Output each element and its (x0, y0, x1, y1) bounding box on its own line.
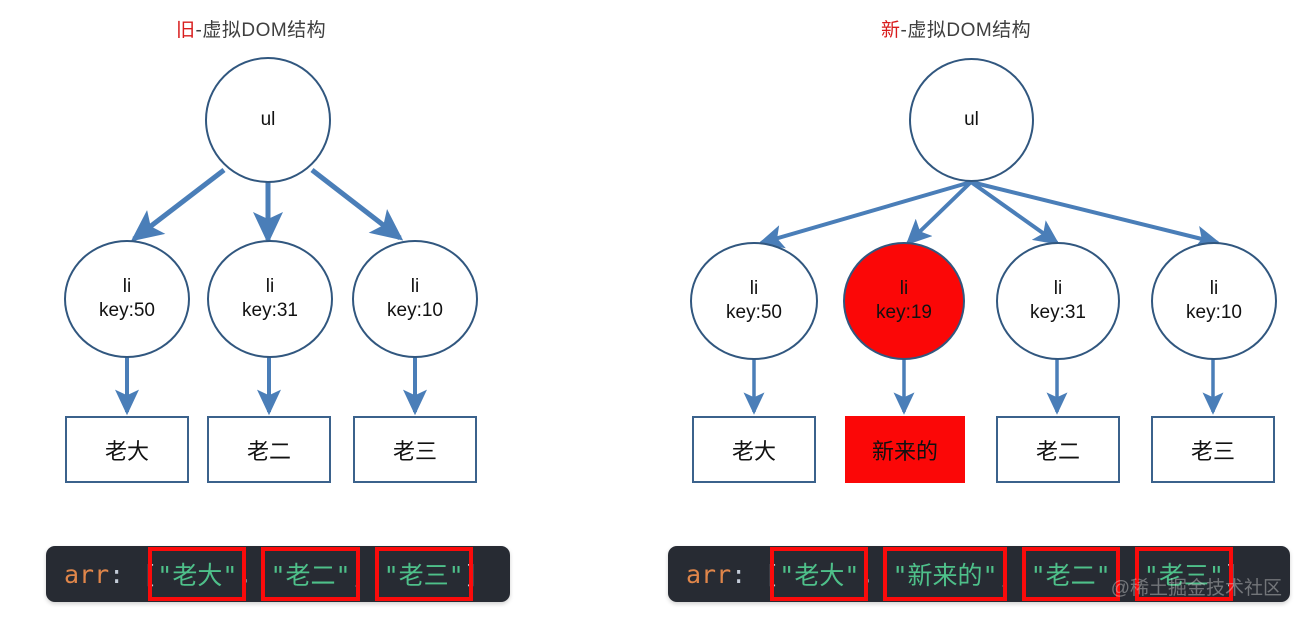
left-code-colon: : (109, 560, 124, 589)
edge-right-root-to-li-3 (971, 182, 1057, 243)
right-code-sep-2: , (998, 560, 1013, 589)
connector-layer (0, 0, 1315, 637)
right-code-item-1: "老大" (779, 556, 859, 592)
right-node-ul-label: ul (964, 108, 979, 132)
right-node-ul[interactable]: ul (909, 58, 1034, 182)
right-leaf-box-4[interactable]: 老三 (1151, 416, 1275, 483)
right-node-li-1-key: key:50 (726, 301, 782, 325)
left-node-li-3-tag: li (411, 275, 419, 299)
right-leaf-box-2[interactable]: 新来的 (845, 416, 965, 483)
edge-right-root-to-li-2 (908, 182, 971, 243)
left-node-li-2-tag: li (266, 275, 274, 299)
right-node-li-2[interactable]: li key:19 (843, 242, 965, 360)
left-leaf-box-3-label: 老三 (393, 434, 437, 466)
diagram-canvas: 旧-虚拟DOM结构 ul li key:50 li key:31 li key:… (0, 0, 1315, 637)
right-code-sep-1: , (859, 560, 874, 589)
right-code-colon: : (731, 560, 746, 589)
left-node-ul-label: ul (261, 108, 276, 132)
left-leaf-box-2-label: 老二 (247, 434, 291, 466)
left-node-li-3[interactable]: li key:10 (352, 240, 478, 358)
edge-left-root-to-li-1 (134, 170, 224, 239)
left-leaf-box-1-label: 老大 (105, 434, 149, 466)
left-code-item-3: "老三" (384, 556, 464, 592)
right-node-li-4-tag: li (1210, 277, 1218, 301)
right-code-open-bracket: [ (764, 560, 779, 589)
left-node-li-2[interactable]: li key:31 (207, 240, 333, 358)
left-code-var: arr (64, 560, 109, 589)
right-code-item-4: "老三" (1144, 556, 1224, 592)
left-title-prefix: 旧 (176, 20, 196, 41)
right-code-close-bracket: ] (1224, 560, 1239, 589)
right-code-item-3: "老二" (1031, 556, 1111, 592)
edge-right-root-to-li-4 (971, 182, 1218, 243)
left-node-ul[interactable]: ul (205, 57, 331, 183)
left-diagram-title: 旧-虚拟DOM结构 (176, 15, 326, 42)
left-code-close-bracket: ] (464, 560, 479, 589)
right-leaf-box-3-label: 老二 (1036, 434, 1080, 466)
right-node-li-3[interactable]: li key:31 (996, 242, 1120, 360)
left-node-li-1-tag: li (123, 275, 131, 299)
left-node-li-1[interactable]: li key:50 (64, 240, 190, 358)
left-code-sep-1: , (237, 560, 252, 589)
right-leaf-box-4-label: 老三 (1191, 434, 1235, 466)
right-leaf-box-1[interactable]: 老大 (692, 416, 816, 483)
left-leaf-box-1[interactable]: 老大 (65, 416, 189, 483)
left-node-li-2-key: key:31 (242, 299, 298, 323)
left-code-item-1: "老大" (157, 556, 237, 592)
right-code-var: arr (686, 560, 731, 589)
left-node-li-1-key: key:50 (99, 299, 155, 323)
left-node-li-3-key: key:10 (387, 299, 443, 323)
edge-left-root-to-li-3 (312, 170, 400, 238)
left-leaf-box-3[interactable]: 老三 (353, 416, 477, 483)
right-diagram-title: 新-虚拟DOM结构 (881, 15, 1031, 42)
right-code-item-2: "新来的" (892, 556, 997, 592)
right-leaf-box-3[interactable]: 老二 (996, 416, 1120, 483)
edge-right-root-to-li-1 (761, 182, 971, 243)
right-leaf-box-1-label: 老大 (732, 434, 776, 466)
right-node-li-3-key: key:31 (1030, 301, 1086, 325)
right-node-li-1-tag: li (750, 277, 758, 301)
left-leaf-box-2[interactable]: 老二 (207, 416, 331, 483)
right-title-prefix: 新 (881, 20, 901, 41)
right-node-li-4[interactable]: li key:10 (1151, 242, 1277, 360)
right-code-sep-3: , (1111, 560, 1126, 589)
right-code-bar[interactable]: arr:["老大","新来的","老二","老三"] @稀土掘金技术社区 (668, 546, 1290, 602)
left-code-open-bracket: [ (142, 560, 157, 589)
right-node-li-1[interactable]: li key:50 (690, 242, 818, 360)
right-node-li-2-tag: li (900, 277, 908, 301)
left-code-bar[interactable]: arr:["老大","老二","老三"] (46, 546, 510, 602)
left-title-rest: -虚拟DOM结构 (196, 20, 327, 41)
right-leaf-box-2-label: 新来的 (872, 434, 938, 466)
left-code-sep-2: , (351, 560, 366, 589)
right-node-li-2-key: key:19 (876, 301, 932, 325)
right-title-rest: -虚拟DOM结构 (901, 20, 1032, 41)
right-node-li-3-tag: li (1054, 277, 1062, 301)
right-node-li-4-key: key:10 (1186, 301, 1242, 325)
left-code-item-2: "老二" (270, 556, 350, 592)
